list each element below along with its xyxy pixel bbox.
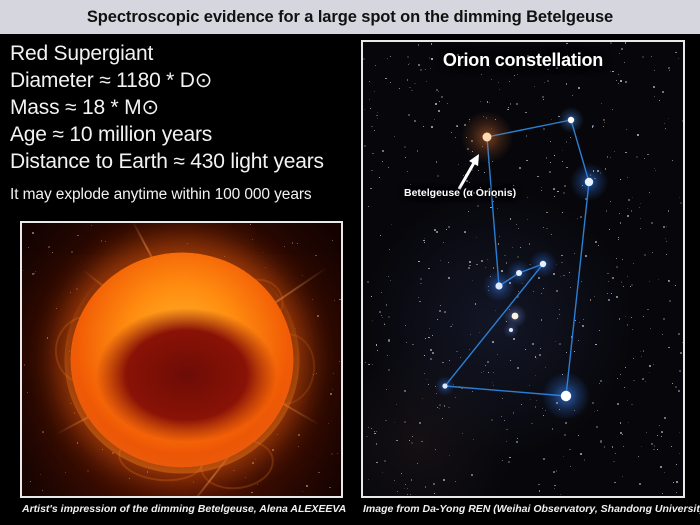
fact-mass: Mass ≈ 18 * M⊙: [10, 94, 360, 121]
star-nebula-2: [509, 328, 513, 332]
star-facts-list: Red Supergiant Diameter ≈ 1180 * D⊙ Mass…: [10, 40, 360, 206]
star-alnitak: [495, 282, 502, 289]
star-nebula-1: [512, 313, 519, 320]
star-bellatrix: [568, 117, 574, 123]
fact-distance: Distance to Earth ≈ 430 light years: [10, 148, 360, 175]
star-meissa: [585, 178, 593, 186]
fact-age: Age ≈ 10 million years: [10, 121, 360, 148]
fact-red-supergiant: Red Supergiant: [10, 40, 360, 67]
constellation-line-meissa-rigel: [566, 182, 589, 396]
poster-title-bar: Spectroscopic evidence for a large spot …: [0, 0, 700, 34]
right-image-caption: Image from Da-Yong REN (Weihai Observato…: [363, 503, 700, 515]
artist-impression-panel: [20, 221, 343, 498]
annotation-arrow-shaft: [459, 159, 476, 189]
left-image-caption: Artist's impression of the dimming Betel…: [22, 503, 346, 515]
orion-constellation-overlay: [363, 42, 683, 496]
star-betelgeuse: [483, 133, 492, 142]
star-mintaka: [540, 261, 546, 267]
star-rigel: [561, 391, 571, 401]
star-saiph: [442, 383, 447, 388]
page-title: Spectroscopic evidence for a large spot …: [87, 8, 613, 27]
poster-root: Spectroscopic evidence for a large spot …: [0, 0, 700, 525]
orion-photo-panel: Orion constellation Betelgeuse (α Orioni…: [361, 40, 685, 498]
fact-diameter: Diameter ≈ 1180 * D⊙: [10, 67, 360, 94]
orion-panel-title: Orion constellation: [363, 50, 683, 71]
betelgeuse-disc-illustration: [70, 252, 293, 467]
fact-explosion-note: It may explode anytime within 100 000 ye…: [10, 184, 360, 206]
star-alnilam: [516, 270, 522, 276]
betelgeuse-annotation-label: Betelgeuse (α Orionis): [404, 187, 516, 199]
